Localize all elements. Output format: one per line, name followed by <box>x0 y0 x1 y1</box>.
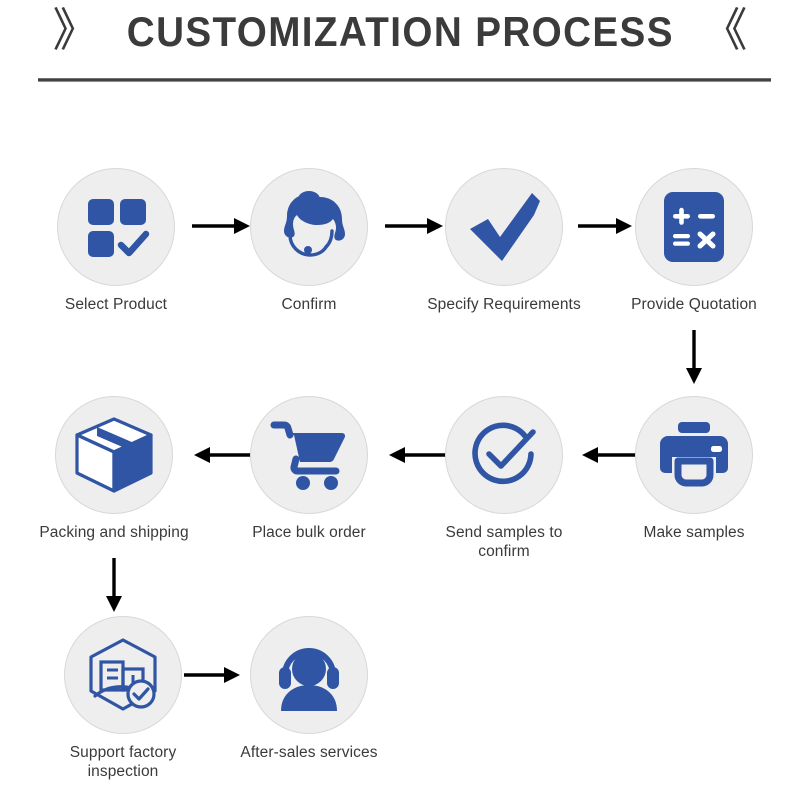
step-icon-bubble <box>250 168 368 286</box>
grid-check-icon <box>80 191 152 263</box>
step-label: Select Product <box>36 295 196 314</box>
left-chevron-icon: 》 <box>53 7 99 53</box>
connector-arrow-down <box>681 330 707 386</box>
step-label: Make samples <box>614 523 774 542</box>
calculator-icon <box>661 190 727 264</box>
shopping-cart-icon <box>270 419 348 491</box>
customization-process-infographic: 》 CUSTOMIZATION PROCESS 《 Select Product <box>0 0 800 800</box>
circle-check-icon <box>465 416 543 494</box>
step-icon-bubble <box>55 396 173 514</box>
step-node-select-product[interactable]: Select Product <box>36 168 196 314</box>
page-title: 》 CUSTOMIZATION PROCESS 《 <box>0 8 800 56</box>
checkmark-icon <box>462 185 546 269</box>
step-icon-bubble <box>57 168 175 286</box>
factory-check-icon <box>83 636 163 714</box>
step-label: Packing and shipping <box>34 523 194 542</box>
step-label: Place bulk order <box>229 523 389 542</box>
package-box-icon <box>73 415 155 495</box>
headset-person-icon <box>271 639 347 711</box>
step-icon-bubble <box>64 616 182 734</box>
step-label: Confirm <box>229 295 389 314</box>
printer-icon <box>656 420 732 490</box>
step-icon-bubble <box>250 396 368 514</box>
right-chevron-icon: 《 <box>701 7 747 53</box>
connector-arrow-down <box>101 558 127 614</box>
step-icon-bubble <box>250 616 368 734</box>
step-label: Support factory inspection <box>43 743 203 782</box>
step-label: Send samples to confirm <box>424 523 584 562</box>
step-node-after-sales-services[interactable]: After-sales services <box>229 616 389 762</box>
step-node-make-samples[interactable]: Make samples <box>614 396 774 542</box>
step-node-packing-and-shipping[interactable]: Packing and shipping <box>34 396 194 542</box>
step-label: Specify Requirements <box>424 295 584 314</box>
step-node-place-bulk-order[interactable]: Place bulk order <box>229 396 389 542</box>
header: 》 CUSTOMIZATION PROCESS 《 <box>0 0 800 92</box>
step-node-specify-requirements[interactable]: Specify Requirements <box>424 168 584 314</box>
step-icon-bubble <box>635 168 753 286</box>
step-node-provide-quotation[interactable]: Provide Quotation <box>614 168 774 314</box>
title-text: CUSTOMIZATION PROCESS <box>126 8 673 56</box>
step-label: Provide Quotation <box>614 295 774 314</box>
step-label: After-sales services <box>229 743 389 762</box>
title-divider <box>38 78 771 82</box>
step-icon-bubble <box>445 168 563 286</box>
support-agent-icon <box>269 187 349 267</box>
step-node-support-factory-inspection[interactable]: Support factory inspection <box>43 616 203 782</box>
step-node-confirm[interactable]: Confirm <box>229 168 389 314</box>
step-node-send-samples-to-confirm[interactable]: Send samples to confirm <box>424 396 584 562</box>
step-icon-bubble <box>635 396 753 514</box>
step-icon-bubble <box>445 396 563 514</box>
